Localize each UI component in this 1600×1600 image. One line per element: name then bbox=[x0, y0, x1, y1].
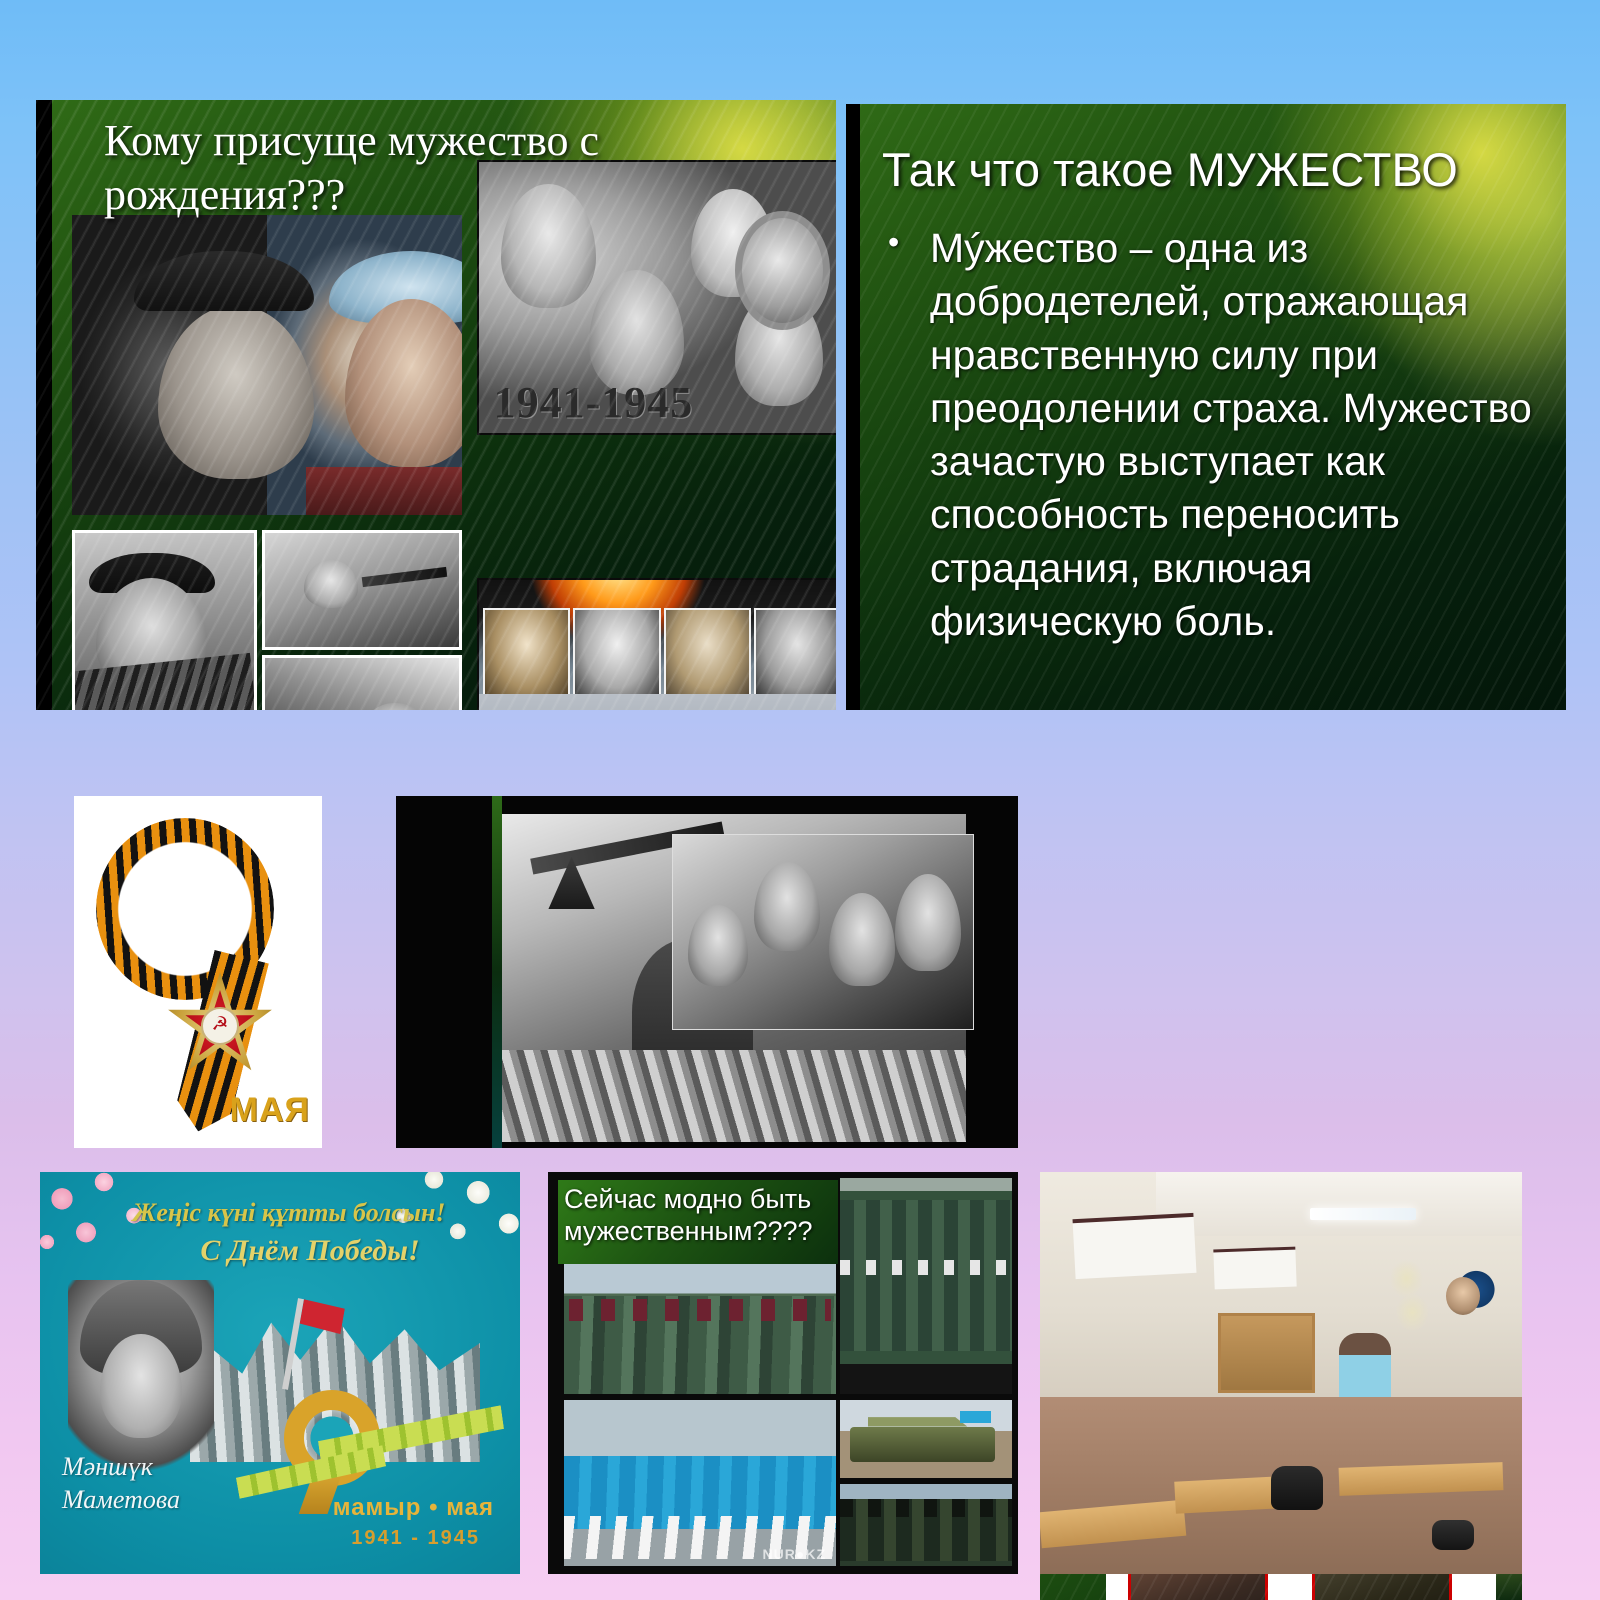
photo-special-forces bbox=[840, 1484, 1012, 1566]
watermark-label: NUR●KZ bbox=[763, 1546, 826, 1562]
card-modern-courage[interactable]: Сейчас модно быть мужественным???? NUR●K… bbox=[548, 1172, 1018, 1574]
hammer-sickle-icon: ☭ bbox=[210, 1015, 230, 1035]
slide-top-left-canvas: Кому присуще мужество с рождения??? 1941… bbox=[52, 100, 836, 710]
photo-years-caption: 1941-1945 bbox=[494, 377, 694, 428]
slide-top-right-body-text: Мýжество – одна из добродетелей, отражаю… bbox=[930, 222, 1548, 648]
presentation-collage-page: Кому присуще мужество с рождения??? 1941… bbox=[0, 0, 1600, 1600]
war-years-label: 1941 - 1945 bbox=[351, 1527, 480, 1550]
greeting-russian: С Днём Победы! bbox=[160, 1234, 460, 1268]
maya-label: МАЯ bbox=[230, 1091, 310, 1130]
card-classroom-photo[interactable] bbox=[1040, 1172, 1522, 1574]
bookshelf bbox=[1218, 1313, 1314, 1393]
modern-courage-title-line-2: мужественным???? bbox=[564, 1216, 832, 1248]
slide-top-right-body: • Мýжество – одна из добродетелей, отраж… bbox=[888, 222, 1548, 648]
slide-top-left[interactable]: Кому присуще мужество с рождения??? 1941… bbox=[36, 100, 836, 710]
bullet-marker: • bbox=[888, 222, 899, 264]
backpack bbox=[1271, 1466, 1323, 1510]
wall-info-board bbox=[1213, 1247, 1296, 1290]
person-first-name: Мәншүк bbox=[62, 1451, 252, 1484]
backpack bbox=[1432, 1520, 1474, 1550]
photo-honor-guard bbox=[840, 1178, 1012, 1394]
photo-soldiers-group bbox=[672, 834, 974, 1030]
greeting-kazakh: Жеңіс күні құтты болсын! bbox=[124, 1198, 454, 1228]
ceiling-lamp bbox=[1310, 1208, 1416, 1220]
photo-winter-battle bbox=[262, 655, 462, 710]
slide-top-left-title: Кому присуще мужество с рождения??? bbox=[104, 114, 724, 221]
photo-sailor-soldier bbox=[72, 530, 257, 710]
slide-top-right[interactable]: Так что такое МУЖЕСТВО • Мýжество – одна… bbox=[846, 104, 1566, 710]
photo-two-women-heroes bbox=[72, 215, 462, 515]
modern-courage-title-line-1: Сейчас модно быть bbox=[564, 1184, 832, 1216]
modern-courage-title: Сейчас модно быть мужественным???? bbox=[558, 1180, 838, 1264]
photo-missile-vehicle bbox=[840, 1400, 1012, 1478]
slide-top-right-title: Так что такое МУЖЕСТВО bbox=[882, 142, 1566, 197]
photo-parade-paratroopers bbox=[564, 1258, 836, 1394]
slide-top-right-canvas: Так что такое МУЖЕСТВО • Мýжество – одна… bbox=[860, 104, 1566, 710]
card-trench-soldiers-photo[interactable] bbox=[396, 796, 1018, 1148]
wall-info-board bbox=[1072, 1213, 1195, 1280]
photo-machine-gunner bbox=[262, 530, 462, 650]
card-victory-day-greeting[interactable]: Жеңіс күні құтты болсын! С Днём Победы! … bbox=[40, 1172, 520, 1574]
photo-portraits-and-carnations bbox=[477, 578, 836, 710]
photo-women-parade: NUR●KZ bbox=[564, 1400, 836, 1566]
st-george-ribbon-nine-icon: ☭ МАЯ bbox=[84, 804, 312, 1140]
date-label: мамыр • мая bbox=[333, 1494, 494, 1522]
white-blossom-icon bbox=[366, 1172, 520, 1286]
person-last-name: Маметова bbox=[62, 1484, 252, 1517]
card-victory-ribbon[interactable]: ☭ МАЯ bbox=[74, 796, 322, 1148]
wall-decoration-portrait bbox=[1363, 1252, 1508, 1340]
person-signature: Мәншүк Маметова bbox=[62, 1451, 252, 1516]
